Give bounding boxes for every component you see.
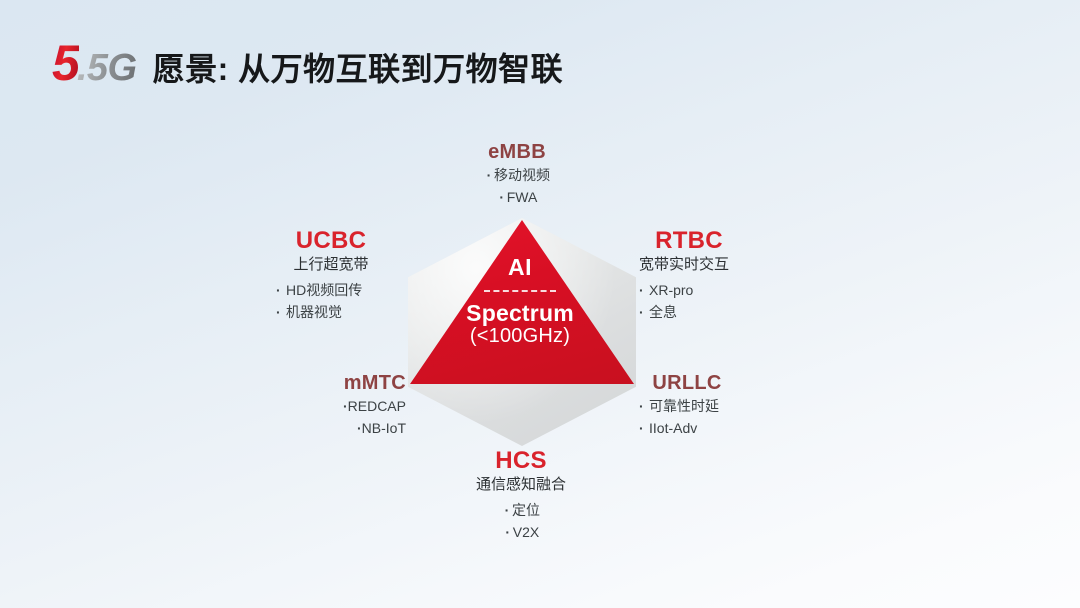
list-item: NB-IoT xyxy=(266,418,406,440)
list-item: HD视频回传 xyxy=(276,280,404,302)
node-ucbc-subtitle: 上行超宽带 xyxy=(258,256,404,275)
node-ucbc: UCBC 上行超宽带 HD视频回传 机器视觉 xyxy=(258,228,404,324)
node-embb-title: eMBB xyxy=(437,141,597,163)
list-item: 定位 xyxy=(441,500,601,522)
core-spectrum-range: (<100GHz) xyxy=(470,325,570,348)
list-item: V2X xyxy=(441,522,601,544)
list-item: 移动视频 xyxy=(437,165,597,187)
list-item: REDCAP xyxy=(266,396,406,418)
list-item: 全息 xyxy=(639,302,799,324)
node-rtbc-title: RTBC xyxy=(639,228,739,254)
core-triangle-content: AI Spectrum (<100GHz) xyxy=(408,218,632,382)
node-ucbc-title: UCBC xyxy=(258,228,404,254)
node-hcs-title: HCS xyxy=(441,448,601,474)
logo-5point5g-primary: 5 xyxy=(52,38,79,88)
node-mmtc-bullets: REDCAP NB-IoT xyxy=(266,396,406,439)
list-item: 机器视觉 xyxy=(276,302,404,324)
node-mmtc-title: mMTC xyxy=(266,372,406,394)
core-spectrum-label: Spectrum xyxy=(466,301,574,325)
node-rtbc-bullets: XR-pro 全息 xyxy=(639,280,799,323)
core-hexagon-diagram: AI Spectrum (<100GHz) xyxy=(408,218,636,446)
list-item: XR-pro xyxy=(639,280,799,302)
page-title: 愿景: 从万物互联到万物智联 xyxy=(153,53,564,85)
node-hcs: HCS 通信感知融合 定位 V2X xyxy=(441,448,601,544)
node-ucbc-bullets: HD视频回传 机器视觉 xyxy=(258,280,404,323)
node-hcs-bullets: 定位 V2X xyxy=(441,500,601,543)
core-ai-label: AI xyxy=(508,256,532,279)
slide-canvas: 5 .5G 愿景: 从万物互联到万物智联 AI Spectrum (<100GH… xyxy=(0,0,1080,608)
node-embb-bullets: 移动视频 FWA xyxy=(437,165,597,208)
node-urllc: URLLC 可靠性时延 IIot-Adv xyxy=(639,372,799,439)
core-dashed-divider xyxy=(484,290,556,292)
logo-5point5g-secondary: .5G xyxy=(77,49,137,87)
node-rtbc-subtitle: 宽带实时交互 xyxy=(639,256,799,275)
node-urllc-title: URLLC xyxy=(639,372,735,394)
list-item: 可靠性时延 xyxy=(639,396,799,418)
node-mmtc: mMTC REDCAP NB-IoT xyxy=(266,372,406,439)
list-item: FWA xyxy=(437,187,597,209)
list-item: IIot-Adv xyxy=(639,418,799,440)
node-embb: eMBB 移动视频 FWA xyxy=(437,141,597,208)
node-rtbc: RTBC 宽带实时交互 XR-pro 全息 xyxy=(639,228,799,324)
node-urllc-bullets: 可靠性时延 IIot-Adv xyxy=(639,396,799,439)
slide-title-row: 5 .5G 愿景: 从万物互联到万物智联 xyxy=(52,38,563,88)
node-hcs-subtitle: 通信感知融合 xyxy=(441,476,601,495)
